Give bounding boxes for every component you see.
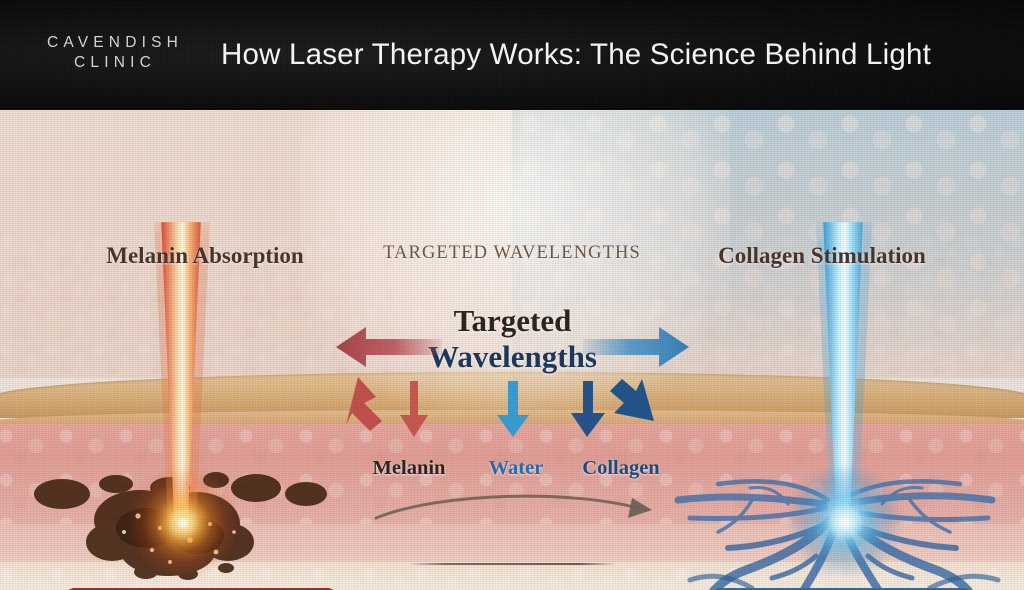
header-bar: CAVENDISH CLINIC How Laser Therapy Works… [0,0,1024,110]
arrow-melanin-left [346,377,382,431]
center-divider-line [408,563,616,565]
target-label-collagen: Collagen [558,457,684,480]
brand-name-line2: CLINIC [30,53,195,73]
targeted-wavelengths-diagram: Targeted Wavelengths [330,295,695,490]
label-targeted-wavelengths: TARGETED WAVELENGTHS [362,243,662,264]
brand-name-line1: CAVENDISH [30,33,195,53]
subcutaneous-layer [0,562,1024,590]
left-spread-arrow [336,327,442,367]
label-melanin-absorption: Melanin Absorption [55,243,355,269]
target-label-melanin: Melanin [350,457,468,480]
arrow-melanin-down [400,381,428,437]
target-label-water: Water [468,457,564,480]
arrow-collagen-right [610,379,654,421]
arrow-water-down [497,381,529,437]
brand-logo[interactable]: CAVENDISH CLINIC [30,33,195,73]
arrow-collagen-down [571,381,605,437]
illustration-panel: Melanin Absorption TARGETED WAVELENGTHS … [0,110,1024,590]
infographic-canvas: CAVENDISH CLINIC How Laser Therapy Works… [0,0,1024,590]
right-spread-arrow [583,327,689,367]
page-title: How Laser Therapy Works: The Science Beh… [196,38,956,72]
label-collagen-stimulation: Collagen Stimulation [672,243,972,269]
